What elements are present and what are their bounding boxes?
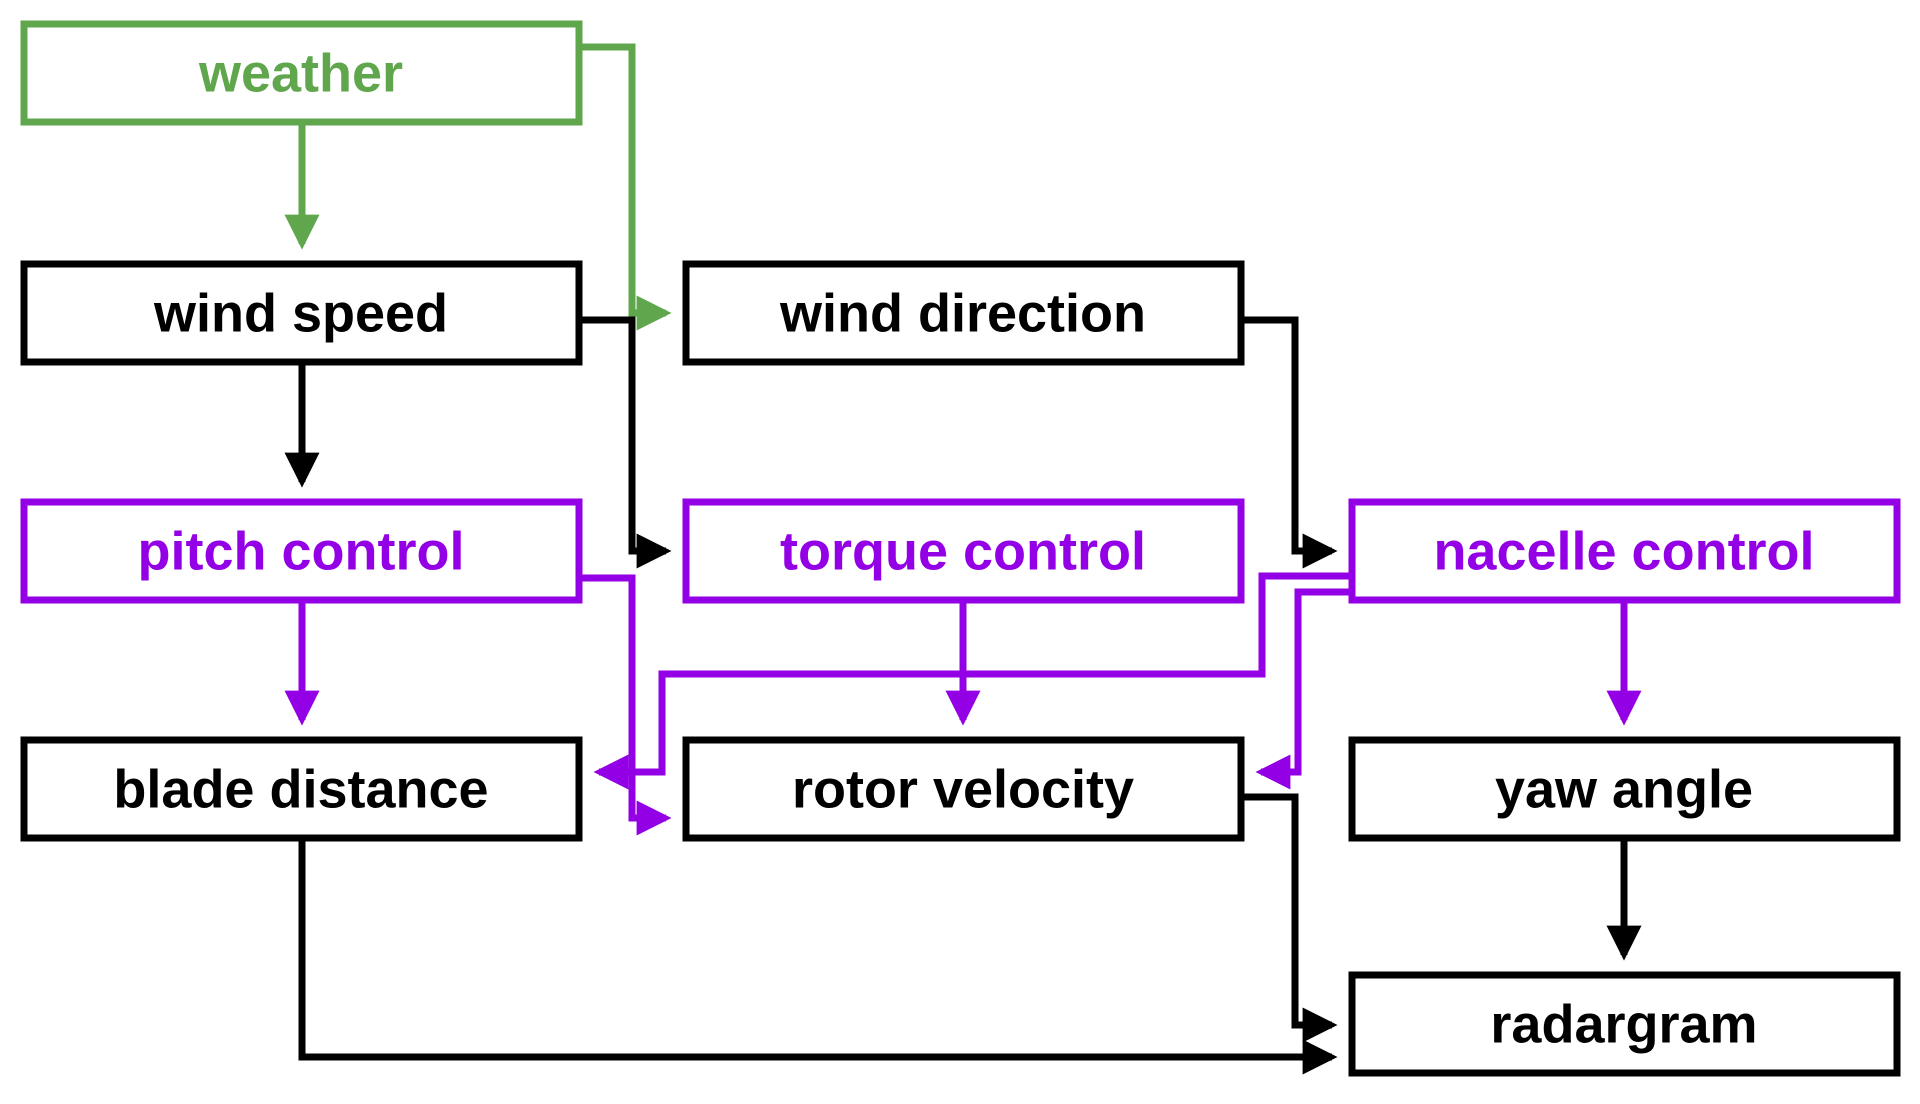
edge-path — [1241, 320, 1332, 551]
node-label: torque control — [780, 521, 1146, 581]
node-weather[interactable]: weather — [24, 24, 579, 122]
node-yaw-angle[interactable]: yaw angle — [1352, 740, 1897, 838]
node-pitch-control[interactable]: pitch control — [24, 502, 579, 600]
node-label: pitch control — [138, 521, 465, 581]
node-label: weather — [198, 43, 403, 103]
edge-rotor-velocity-to-radargram — [1241, 797, 1332, 1025]
node-label: yaw angle — [1495, 759, 1753, 819]
edge-blade-distance-to-radargram — [302, 838, 1332, 1057]
flowchart-svg: weather wind speed wind direction pitch … — [0, 0, 1920, 1104]
edge-path — [579, 47, 666, 313]
node-label: wind speed — [153, 283, 448, 343]
edge-weather-to-wind-direction — [579, 47, 666, 313]
node-label: wind direction — [779, 283, 1146, 343]
edge-path — [1241, 797, 1332, 1025]
edge-path — [579, 320, 666, 551]
edge-wind-direction-to-nacelle-control — [1241, 320, 1332, 551]
node-label: nacelle control — [1433, 521, 1814, 581]
node-wind-direction[interactable]: wind direction — [686, 264, 1241, 362]
edge-wind-speed-to-torque-control — [579, 320, 666, 551]
node-wind-speed[interactable]: wind speed — [24, 264, 579, 362]
node-label: rotor velocity — [792, 759, 1134, 819]
node-label: radargram — [1490, 994, 1757, 1054]
edge-nacelle-control-to-rotor-velocity — [1261, 592, 1352, 772]
node-torque-control[interactable]: torque control — [686, 502, 1241, 600]
node-nacelle-control[interactable]: nacelle control — [1352, 502, 1897, 600]
diagram-canvas: weather wind speed wind direction pitch … — [0, 0, 1920, 1104]
edge-pitch-control-to-rotor-velocity — [579, 578, 666, 818]
node-blade-distance[interactable]: blade distance — [24, 740, 579, 838]
node-radargram[interactable]: radargram — [1352, 975, 1897, 1073]
edge-path — [579, 578, 666, 818]
node-rotor-velocity[interactable]: rotor velocity — [686, 740, 1241, 838]
edge-path — [1261, 592, 1352, 772]
node-label: blade distance — [113, 759, 488, 819]
edge-path — [302, 838, 1332, 1057]
